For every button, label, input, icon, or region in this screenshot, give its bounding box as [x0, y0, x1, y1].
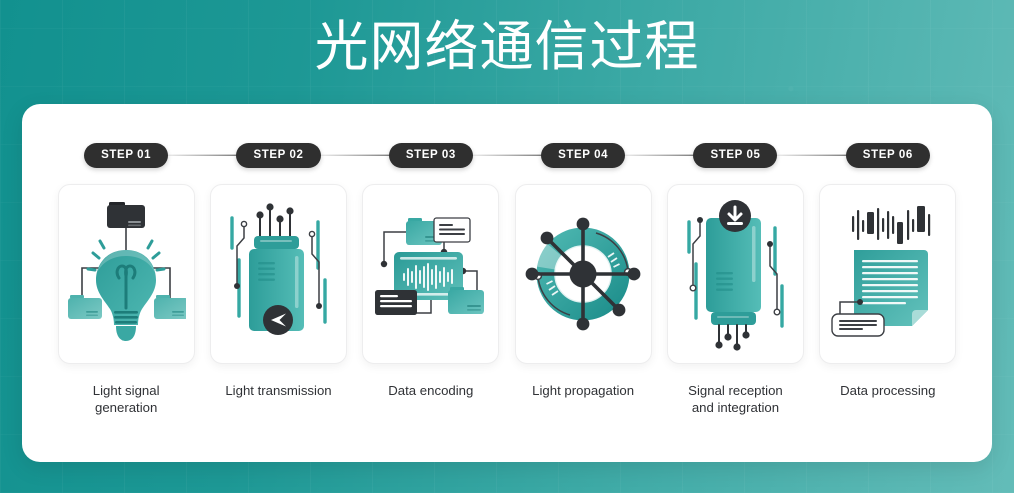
step-badge-04[interactable]: STEP 04 — [541, 143, 625, 168]
icon-card-5[interactable] — [667, 184, 804, 364]
connector-line — [612, 154, 706, 156]
lightbulb-folders-icon — [66, 194, 186, 354]
icon-card-1[interactable] — [58, 184, 195, 364]
connector-line — [308, 154, 402, 156]
step-item-1: Light signal generation — [50, 184, 202, 416]
step-item-3: Data encoding — [355, 184, 507, 416]
waveform-panel-icon — [371, 194, 491, 354]
icon-card-2[interactable] — [210, 184, 347, 364]
step-badge-03[interactable]: STEP 03 — [389, 143, 473, 168]
step-connector-5-6 — [765, 151, 859, 160]
document-barcode-icon — [828, 194, 948, 354]
step-rail: STEP 01 STEP 02 STEP 03 STEP 04 — [50, 142, 964, 168]
step-caption-4: Light propagation — [508, 382, 658, 399]
step-connector-4-5 — [612, 151, 706, 160]
step-caption-2: Light transmission — [203, 382, 353, 399]
step-badge-06[interactable]: STEP 06 — [846, 143, 930, 168]
step-connector-1-2 — [155, 151, 249, 160]
step-connector-3-4 — [460, 151, 554, 160]
step-badge-01[interactable]: STEP 01 — [84, 143, 168, 168]
step-item-2: Light transmission — [202, 184, 354, 416]
step-badge-05[interactable]: STEP 05 — [693, 143, 777, 168]
step-cards: Light signal generation — [50, 184, 964, 416]
step-item-6: Data processing — [812, 184, 964, 416]
step-item-4: Light propagation — [507, 184, 659, 416]
step-caption-1: Light signal generation — [51, 382, 201, 416]
step-item-5: Signal reception and integration — [659, 184, 811, 416]
step-connector-2-3 — [308, 151, 402, 160]
icon-card-3[interactable] — [362, 184, 499, 364]
receiver-download-icon — [675, 194, 795, 354]
infographic-panel: STEP 01 STEP 02 STEP 03 STEP 04 — [22, 104, 992, 462]
connector-line — [460, 154, 554, 156]
step-caption-6: Data processing — [813, 382, 963, 399]
icon-card-6[interactable] — [819, 184, 956, 364]
icon-card-4[interactable] — [515, 184, 652, 364]
connector-line — [155, 154, 249, 156]
page-title: 光网络通信过程 — [0, 10, 1014, 84]
step-badge-02[interactable]: STEP 02 — [236, 143, 320, 168]
radial-hub-icon — [518, 199, 648, 349]
connector-line — [765, 154, 859, 156]
transmitter-send-icon — [218, 194, 338, 354]
step-rail-cell-1: STEP 01 — [50, 143, 202, 168]
step-caption-5: Signal reception and integration — [660, 382, 810, 416]
step-caption-3: Data encoding — [356, 382, 506, 399]
